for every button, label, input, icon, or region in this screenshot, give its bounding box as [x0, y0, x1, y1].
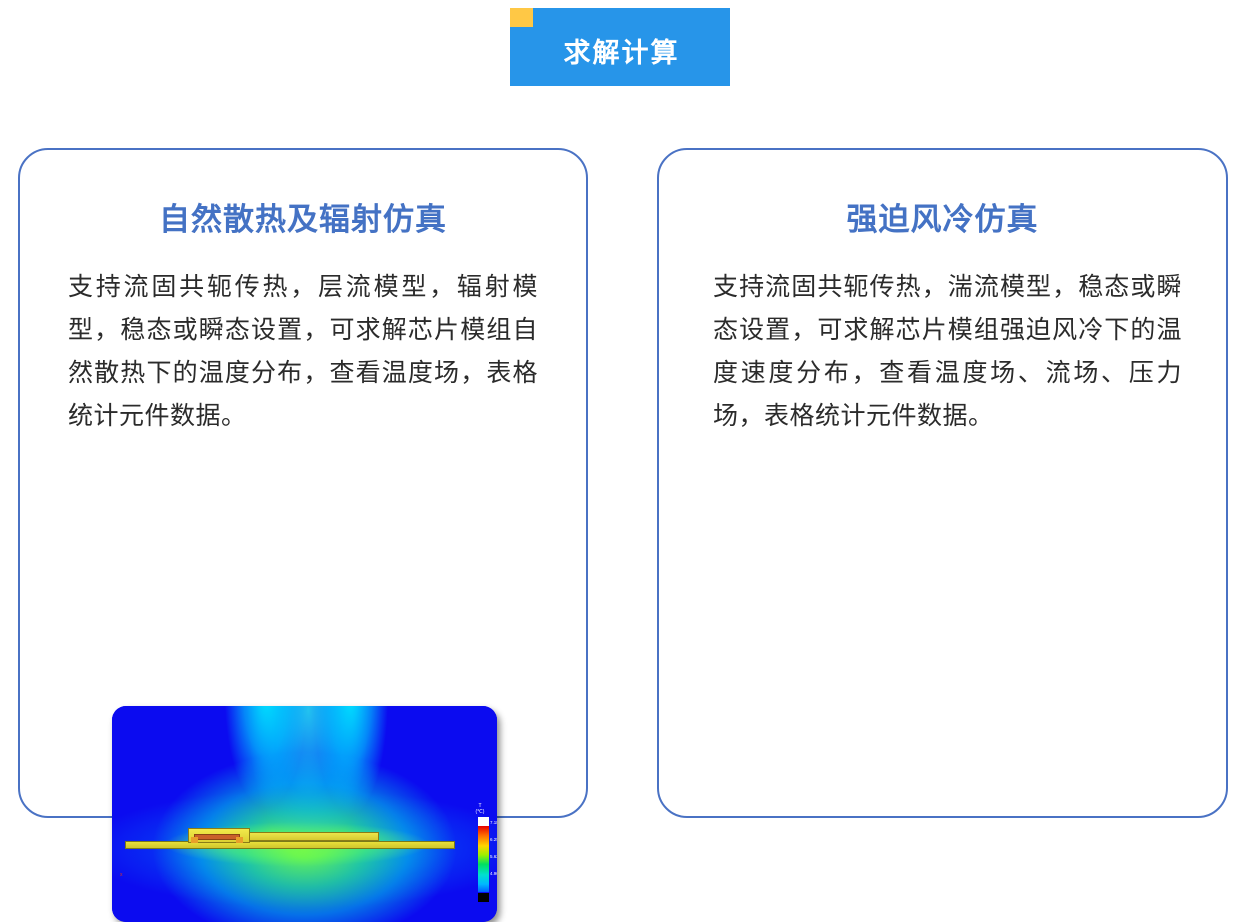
page-header: 求解计算	[510, 8, 730, 86]
legend-tick-1: 6.250e+	[490, 837, 497, 842]
axis-orientation-marker: x	[120, 873, 123, 878]
legend-tick-2: 5.625e+	[490, 854, 497, 859]
card-natural-convection[interactable]: 自然散热及辐射仿真 支持流固共轭传热，层流模型，辐射模型，稳态或瞬态设置，可求解…	[18, 148, 588, 818]
legend-tick-3: 4.900e+	[490, 871, 497, 876]
legend-tick-0: 7.182e+	[490, 820, 497, 825]
legend-tick-labels: 7.182e+ 6.250e+ 5.625e+ 4.900e+	[490, 820, 497, 876]
legend-unit: (℃)	[471, 809, 489, 815]
pcb-board-geometry	[125, 841, 455, 849]
header-banner-top	[533, 8, 730, 27]
module-solder-pad-left	[191, 837, 198, 843]
card-body-forced-air-cooling: 支持流固共轭传热，湍流模型，稳态或瞬态设置，可求解芯片模组强迫风冷下的温度速度分…	[713, 266, 1182, 438]
legend-cap-min	[478, 893, 489, 902]
card-body-natural-convection: 支持流固共轭传热，层流模型，辐射模型，稳态或瞬态设置，可求解芯片模组自然散热下的…	[68, 266, 538, 438]
legend-cap-max	[478, 817, 489, 826]
card-title-forced-air-cooling: 强迫风冷仿真	[659, 194, 1226, 239]
orange-square-accent-icon	[510, 8, 534, 28]
header-banner: 求解计算	[510, 27, 730, 86]
temperature-legend: T (℃) 7.182e+ 6.250e+ 5.625e+ 4.900e+	[477, 803, 489, 902]
page-title: 求解计算	[561, 40, 680, 73]
legend-colorbar	[478, 826, 489, 892]
figure-natural-convection-thermal-plume: T (℃) 7.182e+ 6.250e+ 5.625e+ 4.900e+ x	[112, 706, 497, 922]
module-solder-pad-right	[236, 837, 243, 843]
temperature-contour-field	[112, 706, 497, 922]
card-forced-air-cooling[interactable]: 强迫风冷仿真 支持流固共轭传热，湍流模型，稳态或瞬态设置，可求解芯片模组强迫风冷…	[657, 148, 1228, 818]
chip-die-geometry	[194, 834, 240, 840]
card-title-natural-convection: 自然散热及辐射仿真	[20, 194, 586, 239]
